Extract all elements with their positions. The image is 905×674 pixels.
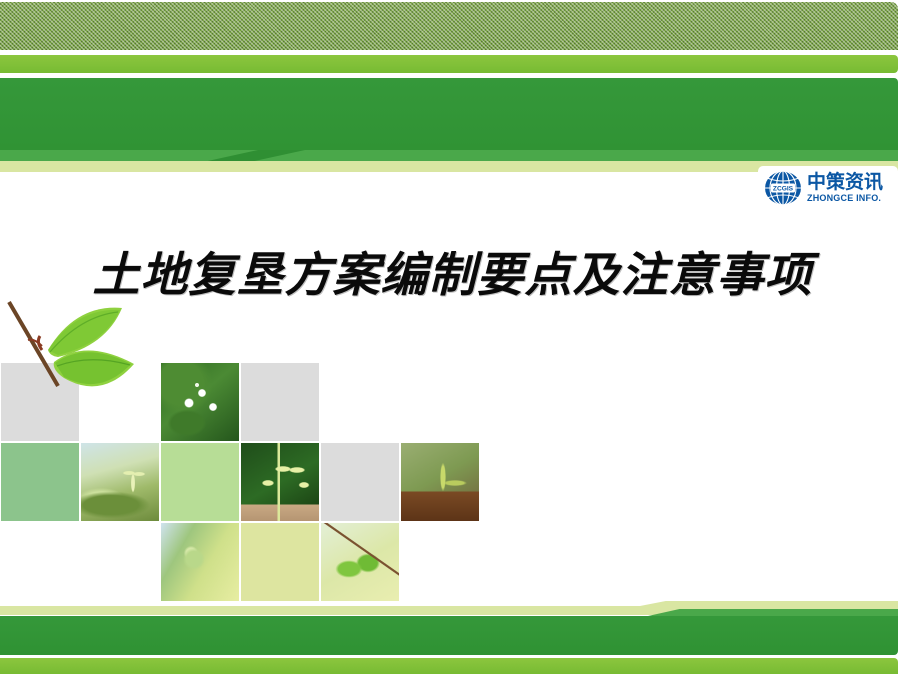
- tile-gray-plain: [241, 363, 319, 441]
- tile-leaf-pair: [321, 523, 399, 601]
- photo-mosaic: [0, 0, 905, 674]
- tile-moss-sprout: [81, 443, 159, 521]
- tile-leaf-branch-gray: [1, 363, 79, 441]
- presentation-slide: ZCGIS 中策资讯 ZHONGCE INFO. 土地复垦方案编制要点及注意事项: [0, 0, 905, 674]
- tile-solid-green: [1, 443, 79, 521]
- tile-solid-lime: [161, 443, 239, 521]
- tile-soil-sprout: [401, 443, 479, 521]
- bottom-light-green-bar: [0, 658, 898, 674]
- tile-white-flowers: [161, 363, 239, 441]
- tile-gray-plain-2: [321, 443, 399, 521]
- bottom-green-block: [0, 616, 898, 655]
- tile-bud-closeup: [161, 523, 239, 601]
- tile-seedlings: [241, 443, 319, 521]
- tile-solid-yellow: [241, 523, 319, 601]
